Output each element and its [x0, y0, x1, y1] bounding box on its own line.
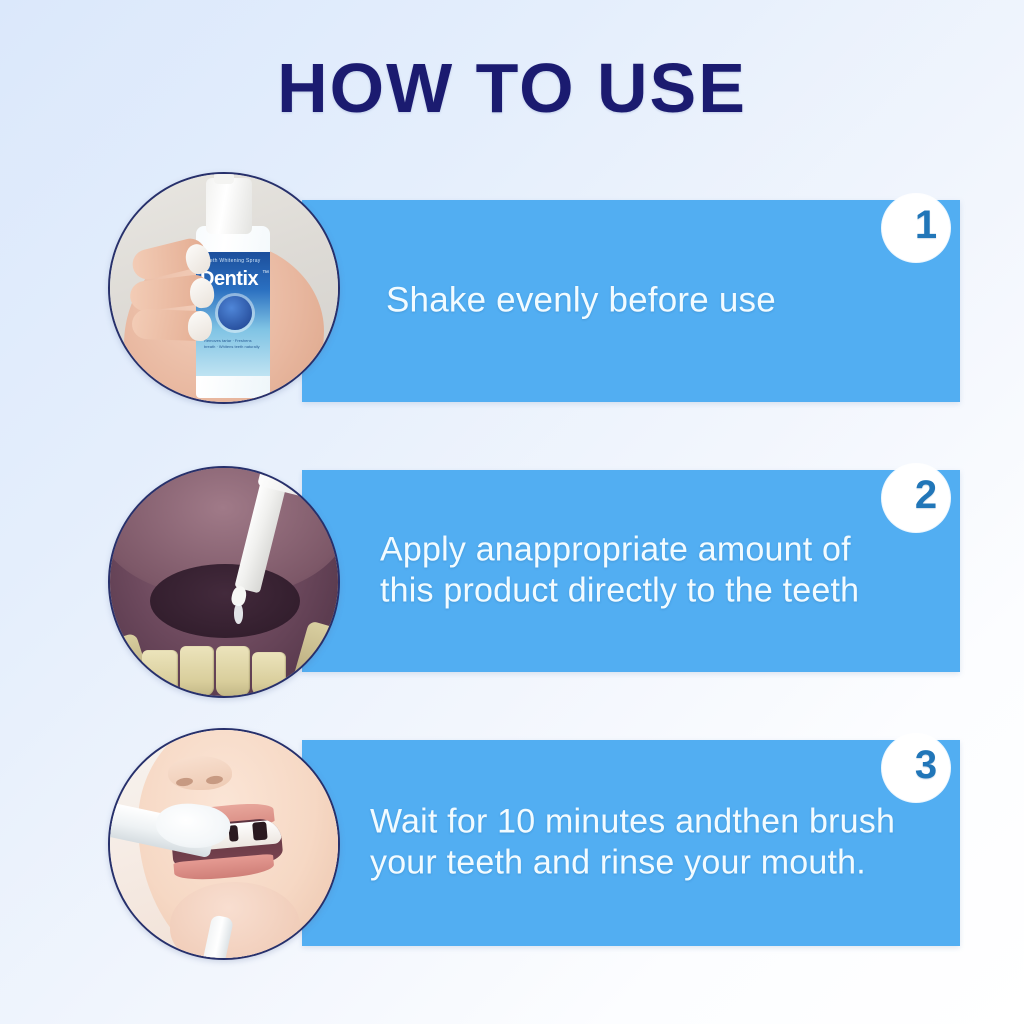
- step-3-number: 3: [892, 731, 960, 799]
- page-title: HOW TO USE: [0, 48, 1024, 128]
- applicator-dispensing-onto-teeth-image: [110, 468, 338, 696]
- bottle-nozzle: [214, 172, 234, 184]
- bottle-cap: [206, 178, 252, 234]
- step-1-number: 1: [892, 191, 960, 259]
- step-1-number-badge: 1: [882, 194, 950, 262]
- step-3: Wait for 10 minutes andthen brush your t…: [0, 712, 1024, 952]
- step-2-text: Apply anappropriate amount of this produ…: [380, 530, 900, 613]
- step-2: Apply anappropriate amount of this produ…: [0, 442, 1024, 682]
- step-1: Shake evenly before use 1 Teeth Whitenin…: [0, 172, 1024, 412]
- globe-logo-icon: [218, 296, 252, 330]
- label-top-line: Teeth Whitening Spray: [204, 258, 261, 264]
- lower-teeth-row: [108, 616, 340, 698]
- trademark-symbol: ™: [262, 270, 269, 277]
- person-brushing-teeth-image: [110, 730, 338, 958]
- step-2-text-line-1: Apply anappropriate amount of: [380, 530, 900, 571]
- step-2-text-line-2: this product directly to the teeth: [380, 571, 900, 612]
- tooth-gap: [252, 822, 268, 841]
- how-to-use-infographic: HOW TO USE Shake evenly before use 1 Tee…: [0, 0, 1024, 1024]
- tooth: [142, 650, 178, 696]
- step-2-bar: Apply anappropriate amount of this produ…: [302, 470, 960, 672]
- step-3-text-line-1: Wait for 10 minutes andthen brush: [370, 802, 900, 843]
- step-2-number: 2: [892, 461, 960, 529]
- molar: [292, 620, 340, 693]
- step-3-number-badge: 3: [882, 734, 950, 802]
- liquid-drop: [234, 604, 243, 624]
- step-1-photo: Teeth Whitening Spray Dentix ™ Removes t…: [108, 172, 340, 404]
- chin: [170, 882, 300, 960]
- step-3-text-line-2: your teeth and rinse your mouth.: [370, 843, 900, 884]
- tooth: [216, 646, 250, 696]
- step-1-text: Shake evenly before use: [386, 280, 900, 323]
- step-2-photo: [108, 466, 340, 698]
- step-3-bar: Wait for 10 minutes andthen brush your t…: [302, 740, 960, 946]
- step-3-text: Wait for 10 minutes andthen brush your t…: [370, 802, 900, 885]
- step-3-photo: [108, 728, 340, 960]
- hand-holding-dentix-spray-bottle-image: Teeth Whitening Spray Dentix ™ Removes t…: [110, 174, 338, 402]
- label-description: Removes tartar · Freshens breath · White…: [204, 338, 262, 351]
- tooth: [252, 652, 286, 696]
- step-2-number-badge: 2: [882, 464, 950, 532]
- step-1-bar: Shake evenly before use 1: [302, 200, 960, 402]
- tooth: [180, 646, 214, 696]
